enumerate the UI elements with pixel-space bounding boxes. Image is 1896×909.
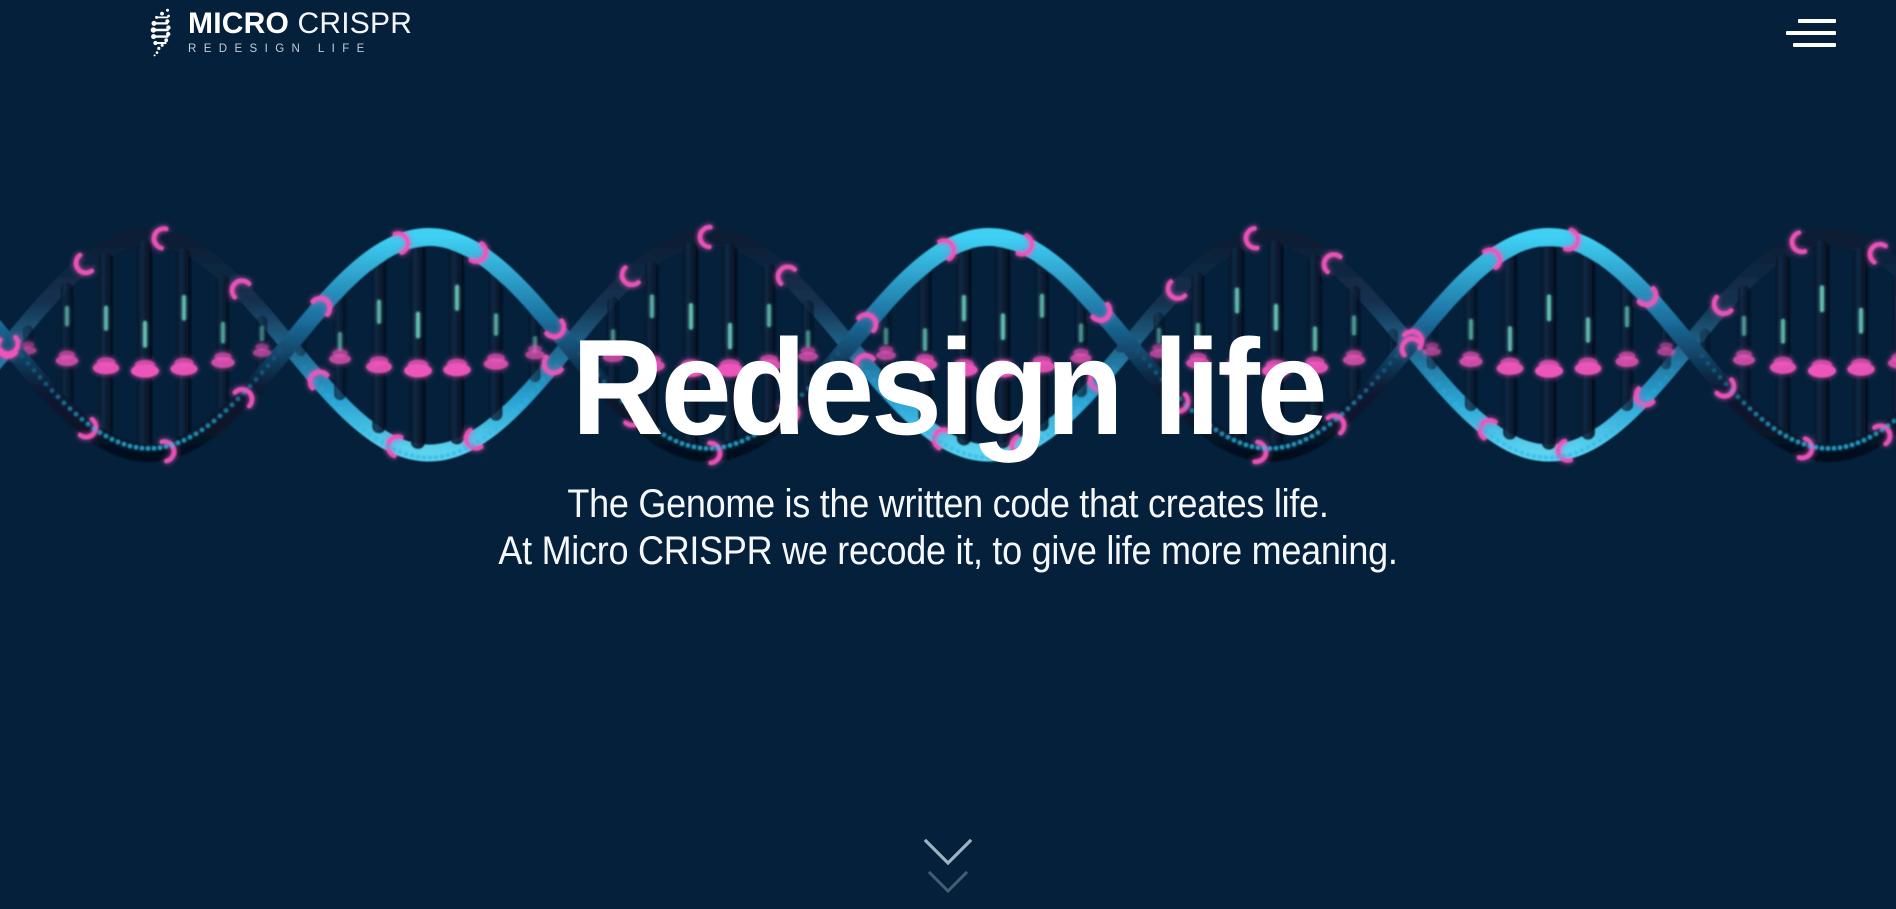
hero-copy: Redesign life The Genome is the written … [0,322,1896,575]
brand-logo[interactable]: MICRO CRISPR REDESIGN LIFE [148,9,412,57]
hero-section: MICRO CRISPR REDESIGN LIFE Redesign life… [0,0,1896,909]
menu-line-middle [1786,31,1836,35]
brand-title-strong: MICRO [188,7,289,40]
site-header: MICRO CRISPR REDESIGN LIFE [0,0,1896,66]
hero-subtitle: The Genome is the written code that crea… [95,481,1801,575]
page-title: Redesign life [57,322,1839,453]
hamburger-menu-icon[interactable] [1786,16,1836,50]
chevron-down-double-icon[interactable] [912,827,984,903]
menu-line-bottom [1793,43,1836,47]
hero-subtitle-line-2: At Micro CRISPR we recode it, to give li… [95,528,1801,575]
dna-helix-icon [148,7,174,57]
brand-tagline: REDESIGN LIFE [188,44,412,56]
hero-subtitle-line-1: The Genome is the written code that crea… [95,481,1801,528]
brand-title: MICRO CRISPR [188,9,412,40]
brand-title-light: CRISPR [298,7,413,40]
menu-line-top [1798,19,1836,23]
